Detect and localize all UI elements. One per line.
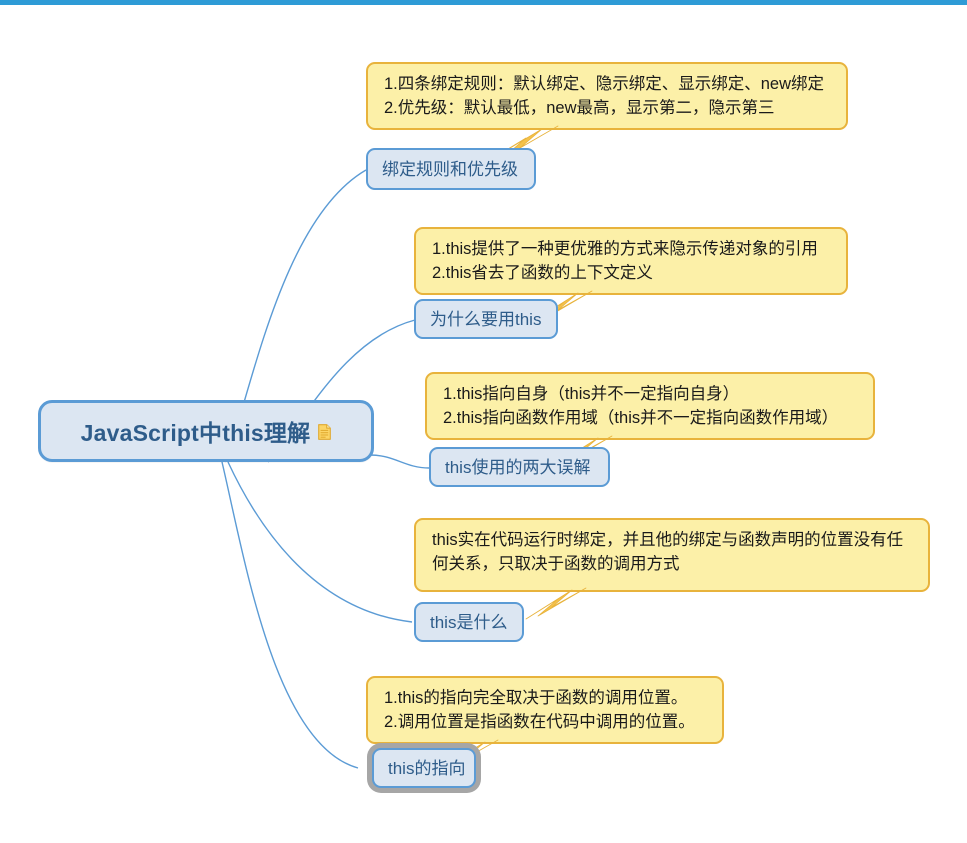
note-box-why-this[interactable]: 1.this提供了一种更优雅的方式来隐示传递对象的引用 2.this省去了函数的… [414, 227, 848, 295]
note-box-binding-rules[interactable]: 1.四条绑定规则：默认绑定、隐示绑定、显示绑定、new绑定 2.优先级：默认最低… [366, 62, 848, 130]
note-line: 2.this指向函数作用域（this并不一定指向函数作用域） [443, 407, 859, 431]
root-node-label: JavaScript中this理解 [81, 414, 311, 448]
note-document-icon [318, 424, 331, 440]
connector-to-two-misunderstandings [370, 455, 429, 468]
window-top-strip [0, 0, 967, 5]
branch-node-label: 绑定规则和优先级 [382, 161, 518, 178]
connector-to-what-is-this [228, 462, 412, 622]
branch-node-two-misunderstandings[interactable]: this使用的两大误解 [429, 447, 610, 487]
branch-node-this-pointing[interactable]: this的指向 [372, 748, 476, 788]
branch-node-why-this[interactable]: 为什么要用this [414, 299, 558, 339]
branch-node-label: this使用的两大误解 [445, 459, 590, 476]
mindmap-canvas[interactable]: JavaScript中this理解 1.四条绑定规则：默认绑定、隐示绑定、显示绑… [0, 0, 967, 843]
note-box-this-pointing[interactable]: 1.this的指向完全取决于函数的调用位置。 2.调用位置是指函数在代码中调用的… [366, 676, 724, 744]
connector-to-this-pointing [222, 462, 358, 768]
note-line: 1.this的指向完全取决于函数的调用位置。 [384, 687, 708, 711]
root-node[interactable]: JavaScript中this理解 [38, 400, 374, 462]
note-line: 何关系，只取决于函数的调用方式 [432, 553, 914, 577]
branch-node-label: 为什么要用this [430, 311, 541, 328]
note-box-what-is-this[interactable]: this实在代码运行时绑定，并且他的绑定与函数声明的位置没有任 何关系，只取决于… [414, 518, 930, 592]
note-line: 2.优先级：默认最低，new最高，显示第二，隐示第三 [384, 97, 832, 121]
note-line: 1.this指向自身（this并不一定指向自身） [443, 383, 859, 407]
note-line: this实在代码运行时绑定，并且他的绑定与函数声明的位置没有任 [432, 529, 914, 553]
branch-node-label: this的指向 [388, 760, 465, 777]
branch-node-binding-rules[interactable]: 绑定规则和优先级 [366, 148, 536, 190]
note-box-two-misunderstandings[interactable]: 1.this指向自身（this并不一定指向自身） 2.this指向函数作用域（t… [425, 372, 875, 440]
branch-node-label: this是什么 [430, 614, 507, 631]
branch-node-what-is-this[interactable]: this是什么 [414, 602, 524, 642]
note-line: 2.this省去了函数的上下文定义 [432, 262, 832, 286]
note-line: 1.四条绑定规则：默认绑定、隐示绑定、显示绑定、new绑定 [384, 73, 832, 97]
note-line: 1.this提供了一种更优雅的方式来隐示传递对象的引用 [432, 238, 832, 262]
note-line: 2.调用位置是指函数在代码中调用的位置。 [384, 711, 708, 735]
